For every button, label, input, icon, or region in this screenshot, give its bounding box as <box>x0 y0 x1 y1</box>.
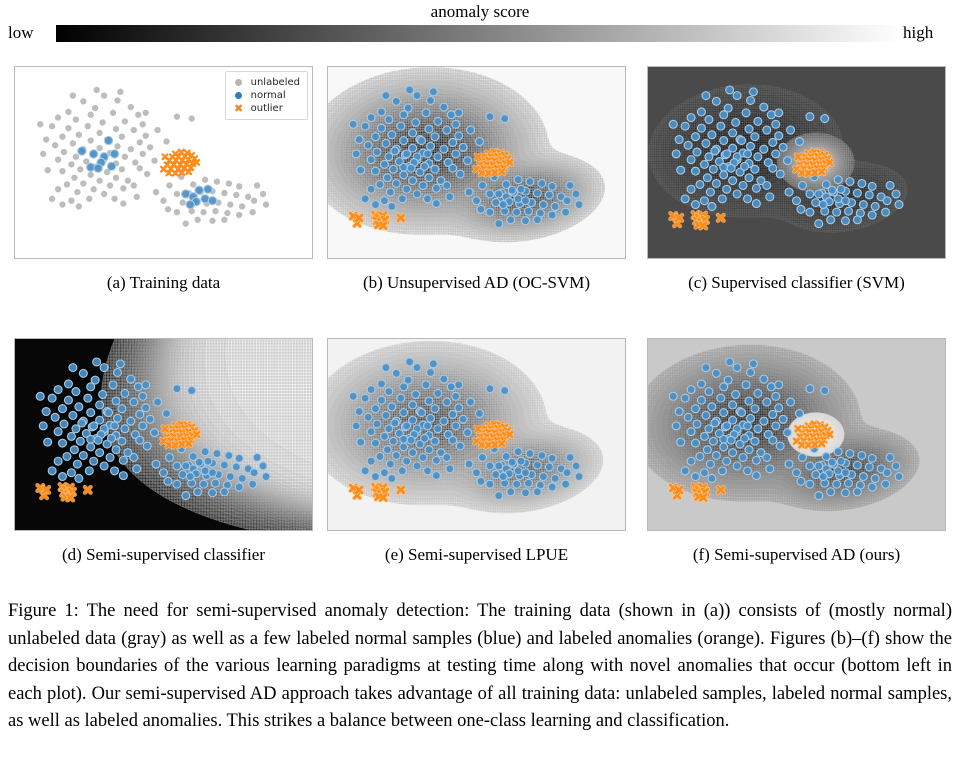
normal-point <box>440 417 448 425</box>
normal-point <box>90 422 98 430</box>
normal-point <box>741 162 749 170</box>
normal-point <box>787 398 795 406</box>
normal-point <box>440 145 448 153</box>
normal-point <box>361 195 369 203</box>
normal-point <box>733 92 741 100</box>
normal-point <box>109 381 117 389</box>
normal-point <box>548 211 556 219</box>
normal-point <box>118 437 126 445</box>
caption-panel-f: (f) Semi-supervised AD (ours) <box>647 544 946 566</box>
normal-point <box>194 488 202 496</box>
normal-point <box>455 132 463 140</box>
normal-point <box>397 394 405 402</box>
unlabeled-point <box>43 136 50 143</box>
normal-point <box>486 462 494 470</box>
normal-point <box>440 103 448 111</box>
normal-point <box>798 182 806 190</box>
unlabeled-point <box>52 142 59 149</box>
normal-point <box>711 419 719 427</box>
normal-point <box>380 432 388 440</box>
normal-point <box>486 480 494 488</box>
normal-point <box>434 153 442 161</box>
unlabeled-point <box>55 114 62 121</box>
unlabeled-point <box>49 195 56 202</box>
unlabeled-point <box>253 182 260 189</box>
normal-point <box>745 125 753 133</box>
normal-point <box>692 201 700 209</box>
normal-point <box>779 143 787 151</box>
normal-point <box>425 174 433 182</box>
unlabeled-point <box>71 174 78 181</box>
normal-point <box>112 446 120 454</box>
normal-point <box>815 462 823 470</box>
unlabeled-point <box>224 210 231 217</box>
normal-point <box>700 469 708 477</box>
normal-point <box>87 435 95 443</box>
unlabeled-point <box>106 182 113 189</box>
normal-point <box>69 411 77 419</box>
normal-point <box>357 166 365 174</box>
normal-point <box>798 454 806 462</box>
normal-point <box>692 439 700 447</box>
unlabeled-point <box>118 133 125 140</box>
normal-point <box>67 469 75 477</box>
normal-point <box>78 419 86 427</box>
normal-point <box>720 111 728 119</box>
normal-point <box>406 86 414 94</box>
normal-point <box>806 462 814 470</box>
normal-point <box>64 396 72 404</box>
normal-point <box>173 462 181 470</box>
normal-point <box>772 422 780 430</box>
normal-point <box>754 153 762 161</box>
blue-dot-icon <box>231 92 247 99</box>
normal-point <box>407 164 415 172</box>
normal-point <box>720 163 728 171</box>
unlabeled-point <box>59 168 66 175</box>
normal-point <box>182 462 190 470</box>
unlabeled-point <box>213 178 220 185</box>
normal-point <box>868 211 876 219</box>
normal-point <box>114 414 122 422</box>
normal-point <box>763 182 771 190</box>
unlabeled-point <box>173 209 180 216</box>
normal-point <box>127 417 135 425</box>
unlabeled-point <box>55 186 62 193</box>
normal-point <box>729 449 737 457</box>
normal-point <box>745 174 753 182</box>
normal-point <box>702 364 710 372</box>
normal-point <box>112 397 120 405</box>
normal-point <box>744 422 752 430</box>
normal-point <box>421 162 429 170</box>
normal-point <box>413 190 421 198</box>
normal-point <box>562 208 570 216</box>
normal-point <box>732 390 740 398</box>
normal-point <box>732 118 740 126</box>
normal-point <box>105 409 113 417</box>
normal-point <box>776 442 784 450</box>
normal-point <box>220 488 228 496</box>
normal-point <box>432 200 440 208</box>
normal-point <box>418 137 426 145</box>
unlabeled-point <box>117 88 124 95</box>
normal-point <box>364 413 372 421</box>
panel-c-plot <box>648 67 945 258</box>
normal-point <box>403 422 411 430</box>
normal-point <box>367 386 375 394</box>
normal-point <box>815 190 823 198</box>
normal-point <box>752 472 760 480</box>
unlabeled-point <box>136 165 143 172</box>
unlabeled-point <box>44 167 51 174</box>
unlabeled-point <box>49 123 56 130</box>
normal-point <box>806 385 814 393</box>
legend: unlabeled normal ✖ outlier <box>225 71 308 120</box>
normal-point <box>720 137 728 145</box>
normal-point <box>361 122 369 130</box>
orange-cross-icon: ✖ <box>231 103 247 114</box>
unlabeled-point <box>166 182 173 189</box>
normal-point <box>766 193 774 201</box>
normal-point <box>687 114 695 122</box>
normal-point <box>36 392 44 400</box>
normal-point <box>692 405 700 413</box>
legend-item-unlabeled: unlabeled <box>231 76 300 89</box>
normal-point <box>476 138 484 146</box>
normal-point <box>431 133 439 141</box>
normal-point <box>380 197 388 205</box>
normal-point <box>692 167 700 175</box>
normal-point <box>367 457 375 465</box>
normal-point <box>821 115 829 123</box>
unlabeled-point <box>194 216 201 223</box>
normal-point <box>751 165 759 173</box>
normal-point <box>121 389 129 397</box>
normal-point <box>521 197 529 205</box>
legend-label-outlier: outlier <box>251 102 283 115</box>
normal-point <box>486 113 494 121</box>
normal-point <box>551 474 559 482</box>
unlabeled-point <box>121 118 128 125</box>
normal-point <box>76 437 84 445</box>
unlabeled-point <box>87 171 94 178</box>
normal-point <box>754 389 762 397</box>
normal-point <box>409 129 417 137</box>
normal-point <box>492 199 500 207</box>
normal-point <box>432 472 440 480</box>
normal-point <box>819 201 827 209</box>
normal-point <box>424 150 432 158</box>
unlabeled-point <box>124 177 131 184</box>
normal-point <box>130 454 138 462</box>
normal-point <box>687 457 695 465</box>
normal-point <box>446 193 454 201</box>
normal-point <box>63 453 71 461</box>
normal-point <box>201 448 209 456</box>
normal-point <box>744 467 752 475</box>
normal-point <box>388 474 396 482</box>
panel-d-plot <box>15 339 312 530</box>
normal-point <box>858 180 866 188</box>
unlabeled-point <box>173 190 180 197</box>
normal-point <box>406 358 414 366</box>
normal-point <box>739 182 747 190</box>
normal-point <box>545 191 553 199</box>
unlabeled-point <box>96 129 103 136</box>
unlabeled-point <box>120 200 127 207</box>
normal-point <box>833 208 841 216</box>
normal-point <box>868 483 876 491</box>
normal-point <box>853 461 861 469</box>
normal-point <box>720 409 728 417</box>
normal-point <box>697 124 705 132</box>
normal-point <box>70 446 78 454</box>
normal-point <box>727 164 735 172</box>
normal-point <box>407 436 415 444</box>
normal-point <box>372 167 380 175</box>
normal-point <box>188 387 196 395</box>
normal-point <box>521 469 529 477</box>
normal-point <box>146 415 154 423</box>
normal-point <box>383 446 391 454</box>
normal-point <box>700 160 708 168</box>
normal-point <box>431 437 439 445</box>
normal-point <box>563 197 571 205</box>
normal-point <box>681 467 689 475</box>
normal-point <box>87 443 95 451</box>
normal-point <box>361 467 369 475</box>
unlabeled-point <box>65 125 72 132</box>
normal-point <box>733 190 741 198</box>
normal-point <box>883 469 891 477</box>
normal-point <box>99 390 107 398</box>
normal-point <box>79 452 87 460</box>
normal-point <box>834 176 842 184</box>
normal-point <box>449 410 457 418</box>
normal-point <box>96 401 104 409</box>
unlabeled-point <box>249 209 256 216</box>
normal-point <box>377 380 385 388</box>
normal-point <box>432 184 440 192</box>
unlabeled-point <box>65 108 72 115</box>
normal-point <box>467 398 475 406</box>
normal-point <box>152 460 160 468</box>
normal-point <box>738 137 746 145</box>
normal-point <box>697 380 705 388</box>
normal-point <box>514 467 522 475</box>
normal-point <box>443 126 451 134</box>
normal-point <box>452 120 460 128</box>
normal-point <box>687 428 695 436</box>
normal-point <box>143 442 151 450</box>
normal-point <box>859 201 867 209</box>
normal-point <box>473 469 481 477</box>
normal-point <box>841 469 849 477</box>
normal-point <box>833 480 841 488</box>
caption-panel-a: (a) Training data <box>14 272 313 294</box>
normal-point <box>711 147 719 155</box>
normal-point <box>754 425 762 433</box>
panel-e-semi-supervised-lpue <box>327 338 626 531</box>
normal-point <box>723 150 731 158</box>
normal-point <box>677 166 685 174</box>
unlabeled-point <box>101 190 108 197</box>
normal-point <box>367 156 375 164</box>
unlabeled-point <box>99 119 106 126</box>
normal-point <box>352 422 360 430</box>
unlabeled-point <box>69 92 76 99</box>
normal-point <box>892 190 900 198</box>
normal-point <box>204 457 212 465</box>
normal-point <box>868 454 876 462</box>
normal-point <box>87 383 95 391</box>
normal-point <box>751 133 759 141</box>
unlabeled-point <box>90 186 97 193</box>
normal-point <box>165 454 173 462</box>
normal-point <box>752 200 760 208</box>
normal-point <box>675 136 683 144</box>
normal-point <box>151 429 159 437</box>
normal-point <box>806 190 814 198</box>
normal-point <box>886 182 894 190</box>
normal-point <box>706 460 714 468</box>
normal-point <box>400 383 408 391</box>
normal-point <box>211 479 219 487</box>
normal-point <box>373 148 381 156</box>
normal-point <box>551 202 559 210</box>
unlabeled-point <box>80 98 87 105</box>
normal-point <box>349 120 357 128</box>
legend-item-normal: normal <box>231 89 300 102</box>
normal-point <box>696 181 704 189</box>
gray-dot-icon <box>231 79 247 86</box>
normal-point <box>69 364 77 372</box>
normal-point <box>392 180 400 188</box>
normal-point <box>51 413 59 421</box>
normal-point <box>419 454 427 462</box>
normal-point <box>427 414 435 422</box>
unlabeled-point <box>188 115 195 122</box>
normal-point <box>54 457 62 465</box>
normal-point <box>39 422 47 430</box>
unlabeled-point <box>74 189 81 196</box>
unlabeled-point <box>135 111 142 118</box>
normal-point <box>745 397 753 405</box>
unlabeled-point <box>59 201 66 208</box>
normal-point <box>806 480 814 488</box>
normal-point <box>440 375 448 383</box>
normal-point <box>702 139 710 147</box>
normal-point <box>361 394 369 402</box>
normal-point <box>163 410 171 418</box>
normal-point <box>533 189 541 197</box>
normal-point <box>434 425 442 433</box>
normal-point <box>733 462 741 470</box>
normal-point <box>400 171 408 179</box>
normal-point <box>563 469 571 477</box>
normal-point <box>717 394 725 402</box>
normal-point <box>524 479 532 487</box>
normal-point <box>747 142 755 150</box>
normal-point <box>785 460 793 468</box>
normal-point <box>42 408 50 416</box>
normal-point <box>367 185 375 193</box>
normal-point <box>726 86 734 94</box>
normal-point <box>476 410 484 418</box>
normal-point <box>562 480 570 488</box>
normal-point <box>349 392 357 400</box>
normal-point <box>486 385 494 393</box>
unlabeled-point <box>173 113 180 120</box>
unlabeled-point <box>221 216 228 223</box>
normal-point <box>412 390 420 398</box>
normal-point <box>779 415 787 423</box>
normal-point <box>815 492 823 500</box>
normal-point <box>769 436 777 444</box>
normal-point <box>572 190 580 198</box>
normal-point <box>744 195 752 203</box>
normal-point <box>372 133 380 141</box>
normal-point <box>60 420 68 428</box>
normal-point <box>705 388 713 396</box>
normal-point <box>733 364 741 372</box>
normal-point <box>846 178 854 186</box>
normal-point <box>107 162 115 170</box>
normal-point <box>844 479 852 487</box>
normal-point <box>703 446 711 454</box>
normal-point <box>118 405 126 413</box>
normal-point <box>455 404 463 412</box>
unlabeled-point <box>130 126 137 133</box>
legend-item-outlier: ✖ outlier <box>231 102 300 115</box>
normal-point <box>526 450 534 458</box>
normal-point <box>434 389 442 397</box>
normal-point <box>752 184 760 192</box>
figure-caption-label: Figure 1: <box>8 601 79 621</box>
unlabeled-point <box>136 139 143 146</box>
colorbar: anomaly score low high <box>0 0 960 52</box>
normal-point <box>464 429 472 437</box>
normal-point <box>456 442 464 450</box>
normal-point <box>834 448 842 456</box>
normal-point <box>173 480 181 488</box>
normal-point <box>837 185 845 193</box>
normal-point <box>675 408 683 416</box>
normal-point <box>473 197 481 205</box>
normal-point <box>495 220 503 228</box>
normal-point <box>432 456 440 464</box>
normal-point <box>772 150 780 158</box>
unlabeled-point <box>120 185 127 192</box>
normal-point <box>400 111 408 119</box>
normal-point <box>703 174 711 182</box>
unlabeled-point <box>182 220 189 227</box>
normal-point <box>859 473 867 481</box>
normal-point <box>575 473 583 481</box>
normal-point <box>486 190 494 198</box>
normal-point <box>723 457 731 465</box>
normal-point <box>425 125 433 133</box>
normal-point <box>865 463 873 471</box>
normal-point <box>388 403 396 411</box>
normal-point <box>372 201 380 209</box>
figure-caption: Figure 1: The need for semi-supervised a… <box>8 598 952 736</box>
normal-point <box>238 474 246 482</box>
normal-point <box>723 185 731 193</box>
normal-point <box>116 360 124 368</box>
normal-point <box>806 208 814 216</box>
